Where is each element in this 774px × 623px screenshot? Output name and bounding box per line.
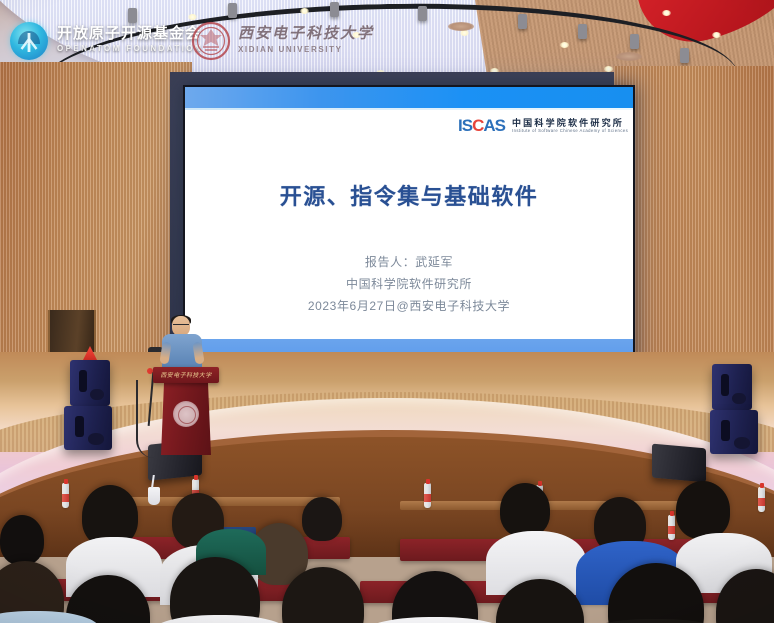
recessed-downlight-icon (662, 10, 671, 16)
iscas-logo: ISCAS 中国科学院软件研究所 Institute of Software C… (458, 117, 624, 134)
iscas-wordmark-icon: ISCAS (458, 117, 505, 134)
lectern: 西安电子科技大学 (157, 367, 215, 455)
iscas-mark-part2: C (472, 116, 483, 135)
openatom-text-block: 开放原子开源基金会 OPENATOM FOUNDATION (57, 26, 203, 55)
openatom-name-cn: 开放原子开源基金会 (57, 26, 203, 43)
speaker-port (75, 416, 85, 437)
water-bottle (424, 483, 431, 508)
presentation-slide: ISCAS 中国科学院软件研究所 Institute of Software C… (185, 87, 633, 365)
wall-right-wood (614, 66, 774, 366)
ceiling-vent (448, 22, 474, 31)
auditorium-photo: ISCAS 中国科学院软件研究所 Institute of Software C… (0, 0, 774, 623)
slide-venue-line: 2023年6月27日@西安电子科技大学 (185, 297, 633, 314)
xidian-name-cn: 西安电子科技大学 (238, 26, 374, 43)
audience-head (302, 497, 342, 541)
speaker-driver (90, 389, 104, 401)
speaker-port (79, 370, 87, 392)
slide-top-band (185, 87, 633, 108)
xidian-university-seal-icon (190, 20, 232, 62)
track-spotlight-icon (128, 8, 137, 23)
speaker-driver (88, 433, 104, 444)
openatom-logo-icon (10, 22, 48, 60)
xidian-text-block: 西安电子科技大学 XIDIAN UNIVERSITY (238, 26, 374, 55)
pa-subwoofer-left (64, 406, 112, 450)
audience-head (676, 481, 730, 539)
desk-row (400, 501, 700, 510)
audience-head-front (392, 571, 478, 623)
water-bottle (62, 483, 69, 508)
xidian-logo-overlay: 西安电子科技大学 XIDIAN UNIVERSITY (190, 20, 374, 62)
track-spotlight-icon (518, 14, 527, 29)
xidian-seal-icon (173, 401, 199, 427)
lectern-top: 西安电子科技大学 (153, 367, 219, 383)
audience-torso-front (580, 619, 730, 623)
recessed-downlight-icon (560, 42, 569, 48)
iscas-mark-part3: AS (483, 116, 505, 135)
slide-speaker-line: 报告人：武延军 (185, 253, 633, 270)
drink-cup (148, 487, 160, 505)
glasses-icon (173, 324, 189, 329)
audience-head (500, 483, 550, 537)
slide-title: 开源、指令集与基础软件 (185, 179, 633, 211)
track-spotlight-icon (680, 48, 689, 63)
iscas-mark-part1: IS (458, 116, 472, 135)
speaker-port (721, 420, 731, 441)
pa-speaker-right-top (712, 364, 752, 410)
audience-torso-front (360, 617, 510, 623)
iscas-name-block: 中国科学院软件研究所 Institute of Software Chinese… (512, 118, 624, 134)
slide-top-hairline (185, 108, 633, 110)
openatom-logo-overlay: 开放原子开源基金会 OPENATOM FOUNDATION (10, 22, 203, 60)
iscas-name-en: Institute of Software Chinese Academy of… (512, 129, 633, 134)
ceiling-vent (616, 52, 642, 61)
xidian-name-en: XIDIAN UNIVERSITY (238, 44, 374, 56)
lectern-nameplate: 西安电子科技大学 (153, 370, 219, 379)
speaker-port (721, 374, 729, 396)
audience-area: 福 山 (0, 475, 774, 623)
track-spotlight-icon (578, 24, 587, 39)
audience-head (0, 515, 44, 565)
recessed-downlight-icon (712, 32, 721, 38)
track-spotlight-icon (330, 2, 339, 17)
iscas-name-cn: 中国科学院软件研究所 (512, 118, 624, 129)
presenter (160, 316, 204, 374)
slide-affiliation-line: 中国科学院软件研究所 (185, 275, 633, 292)
projection-screen: ISCAS 中国科学院软件研究所 Institute of Software C… (183, 85, 635, 367)
track-spotlight-icon (228, 3, 237, 18)
pa-subwoofer-right (710, 410, 758, 454)
openatom-name-en: OPENATOM FOUNDATION (57, 43, 203, 56)
water-bottle (758, 487, 765, 512)
water-bottle (668, 515, 675, 540)
speaker-driver (732, 393, 746, 405)
speaker-driver (734, 437, 750, 448)
pa-speaker-left-top (70, 360, 110, 406)
recessed-downlight-icon (300, 8, 309, 14)
track-spotlight-icon (418, 6, 427, 21)
track-spotlight-icon (630, 34, 639, 49)
